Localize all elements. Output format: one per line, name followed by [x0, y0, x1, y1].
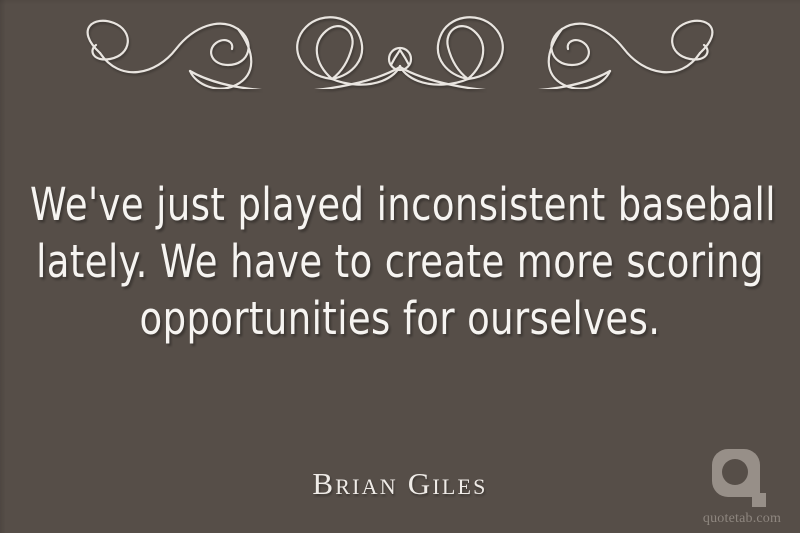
quotetab-logo-icon[interactable]: [712, 449, 772, 509]
quote-line: opportunities for ourselves.: [30, 290, 770, 347]
logo-stem-shape: [748, 473, 760, 493]
quote-card: We've just played inconsistent baseball …: [0, 0, 800, 533]
flourish-icon: [60, 9, 740, 89]
watermark-site-label: quotetab.com: [696, 511, 788, 527]
logo-dot-shape: [752, 493, 766, 507]
quote-author: Brian Giles: [0, 466, 800, 502]
logo-counter-shape: [722, 459, 748, 485]
quote-line: We've just played inconsistent baseball: [30, 176, 770, 233]
ornament-divider: [0, 6, 800, 92]
quote-line: lately. We have to create more scoring: [30, 233, 770, 290]
watermark[interactable]: quotetab.com: [696, 449, 788, 527]
quote-text: We've just played inconsistent baseball …: [0, 176, 800, 347]
